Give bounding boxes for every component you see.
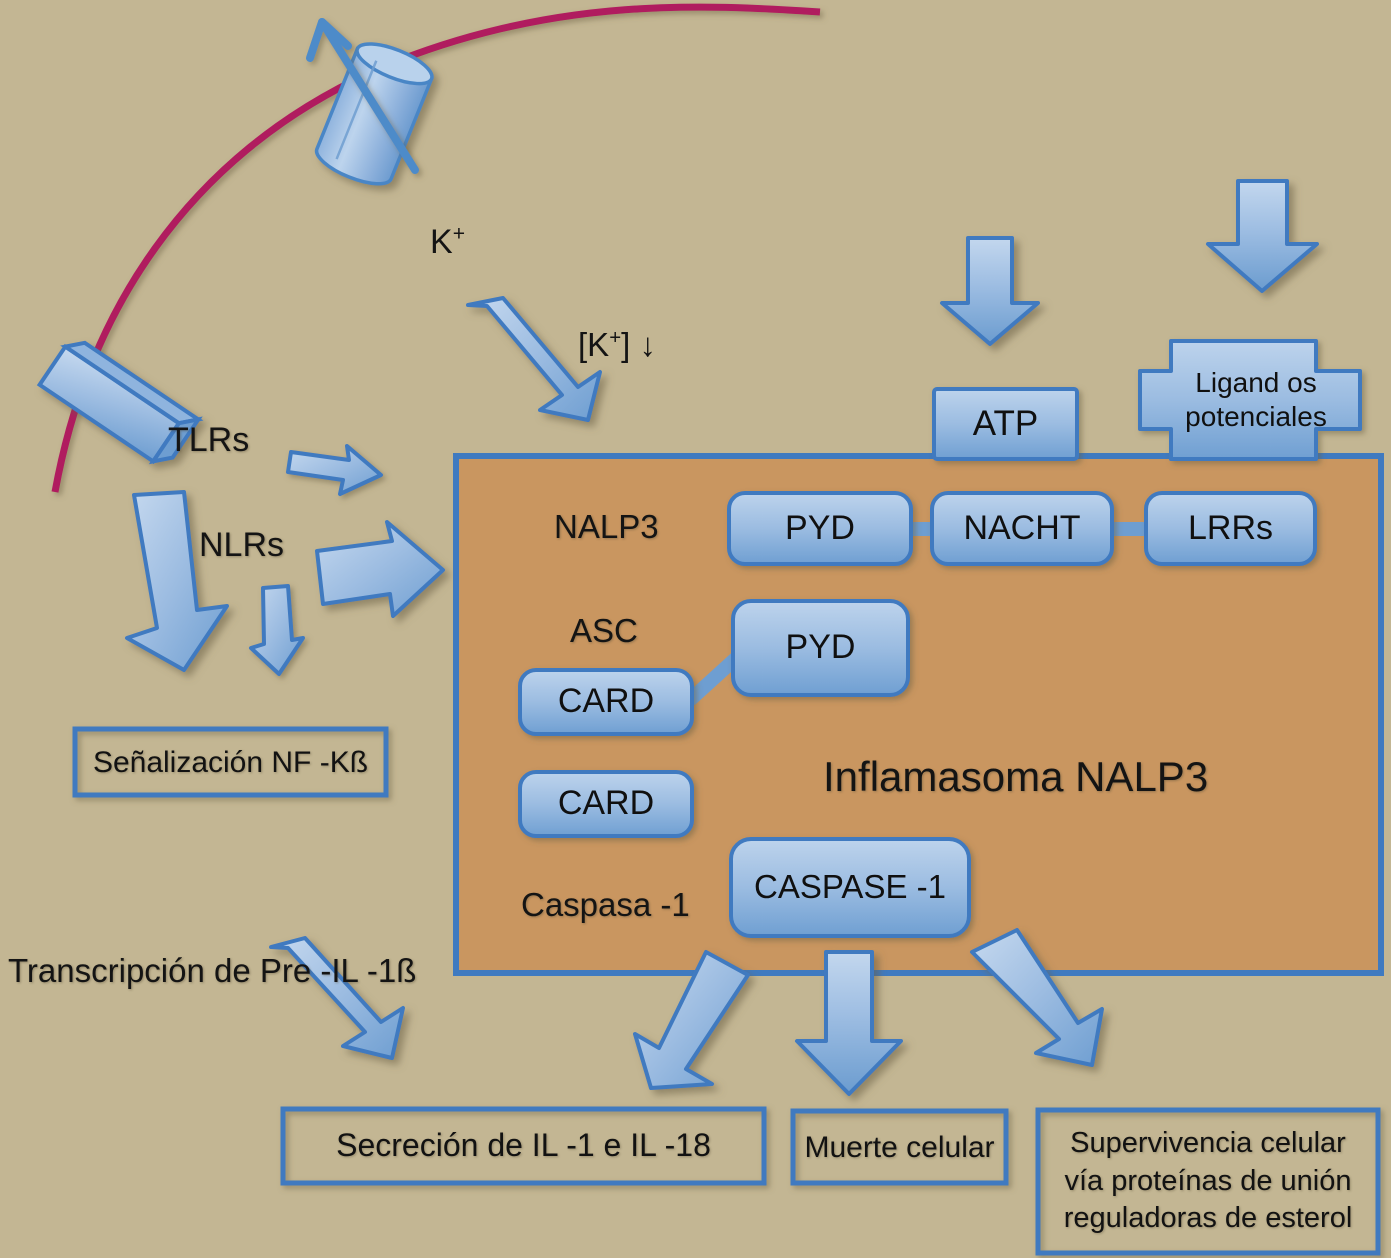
- pyd-asc-shape: [733, 601, 908, 695]
- card-caspase-shape: [520, 772, 692, 836]
- card-asc-shape: [520, 670, 692, 734]
- k-conc-close-text: ]: [621, 326, 639, 363]
- atp-down-arrow: [942, 238, 1038, 344]
- k-concentration-label: [K+] ↓: [578, 326, 656, 365]
- outcome-text-muerte: Muerte celular: [793, 1111, 1006, 1183]
- tlrs-label: TLRs: [168, 420, 249, 460]
- k-plus-superscript: +: [453, 223, 465, 246]
- nalp3-domain-chain: [729, 493, 1315, 564]
- transcripcion-label: Transcripción de Pre -IL -1ß: [8, 952, 416, 991]
- caspasa1-label: Caspasa -1: [521, 886, 690, 925]
- asc-label: ASC: [570, 612, 638, 651]
- outcome-text-secrecion: Secreción de IL -1 e IL -18: [283, 1109, 764, 1183]
- nlr-down-arrow: [127, 492, 227, 670]
- outcome-text-nfkb: Señalización NF -Kß: [75, 729, 386, 795]
- diagram-canvas: K+ [K+] ↓ TLRs NLRs NALP3 ASC Caspasa -1…: [0, 0, 1391, 1258]
- nlrs-label: NLRs: [199, 525, 284, 565]
- k-plus-label: K+: [430, 222, 465, 262]
- nfkb-small-down-arrow: [251, 586, 303, 674]
- diagram-vector-layer: [0, 0, 1391, 1258]
- k-conc-superscript: +: [609, 326, 621, 349]
- k-plus-text: K: [430, 223, 453, 261]
- nalp3-label: NALP3: [554, 508, 659, 547]
- nacht-shape: [932, 493, 1112, 564]
- outcome-text-supervivencia: Supervivencia celular vía proteínas de u…: [1038, 1110, 1378, 1253]
- down-arrow-icon: ↓: [639, 326, 656, 363]
- tlr-signal-arrow: [288, 446, 381, 494]
- lrrs-shape: [1146, 493, 1315, 564]
- inflamasoma-title: Inflamasoma NALP3: [823, 752, 1208, 802]
- ligands-down-arrow: [1208, 181, 1317, 291]
- caspase1-shape: [731, 839, 969, 936]
- nlr-to-inflammasome-arrow: [317, 522, 443, 616]
- k-conc-open-text: [K: [578, 326, 609, 363]
- pyd-nalp3-shape: [729, 493, 911, 564]
- atp-shape: [934, 389, 1077, 459]
- potential-ligands-shape: [1140, 341, 1360, 459]
